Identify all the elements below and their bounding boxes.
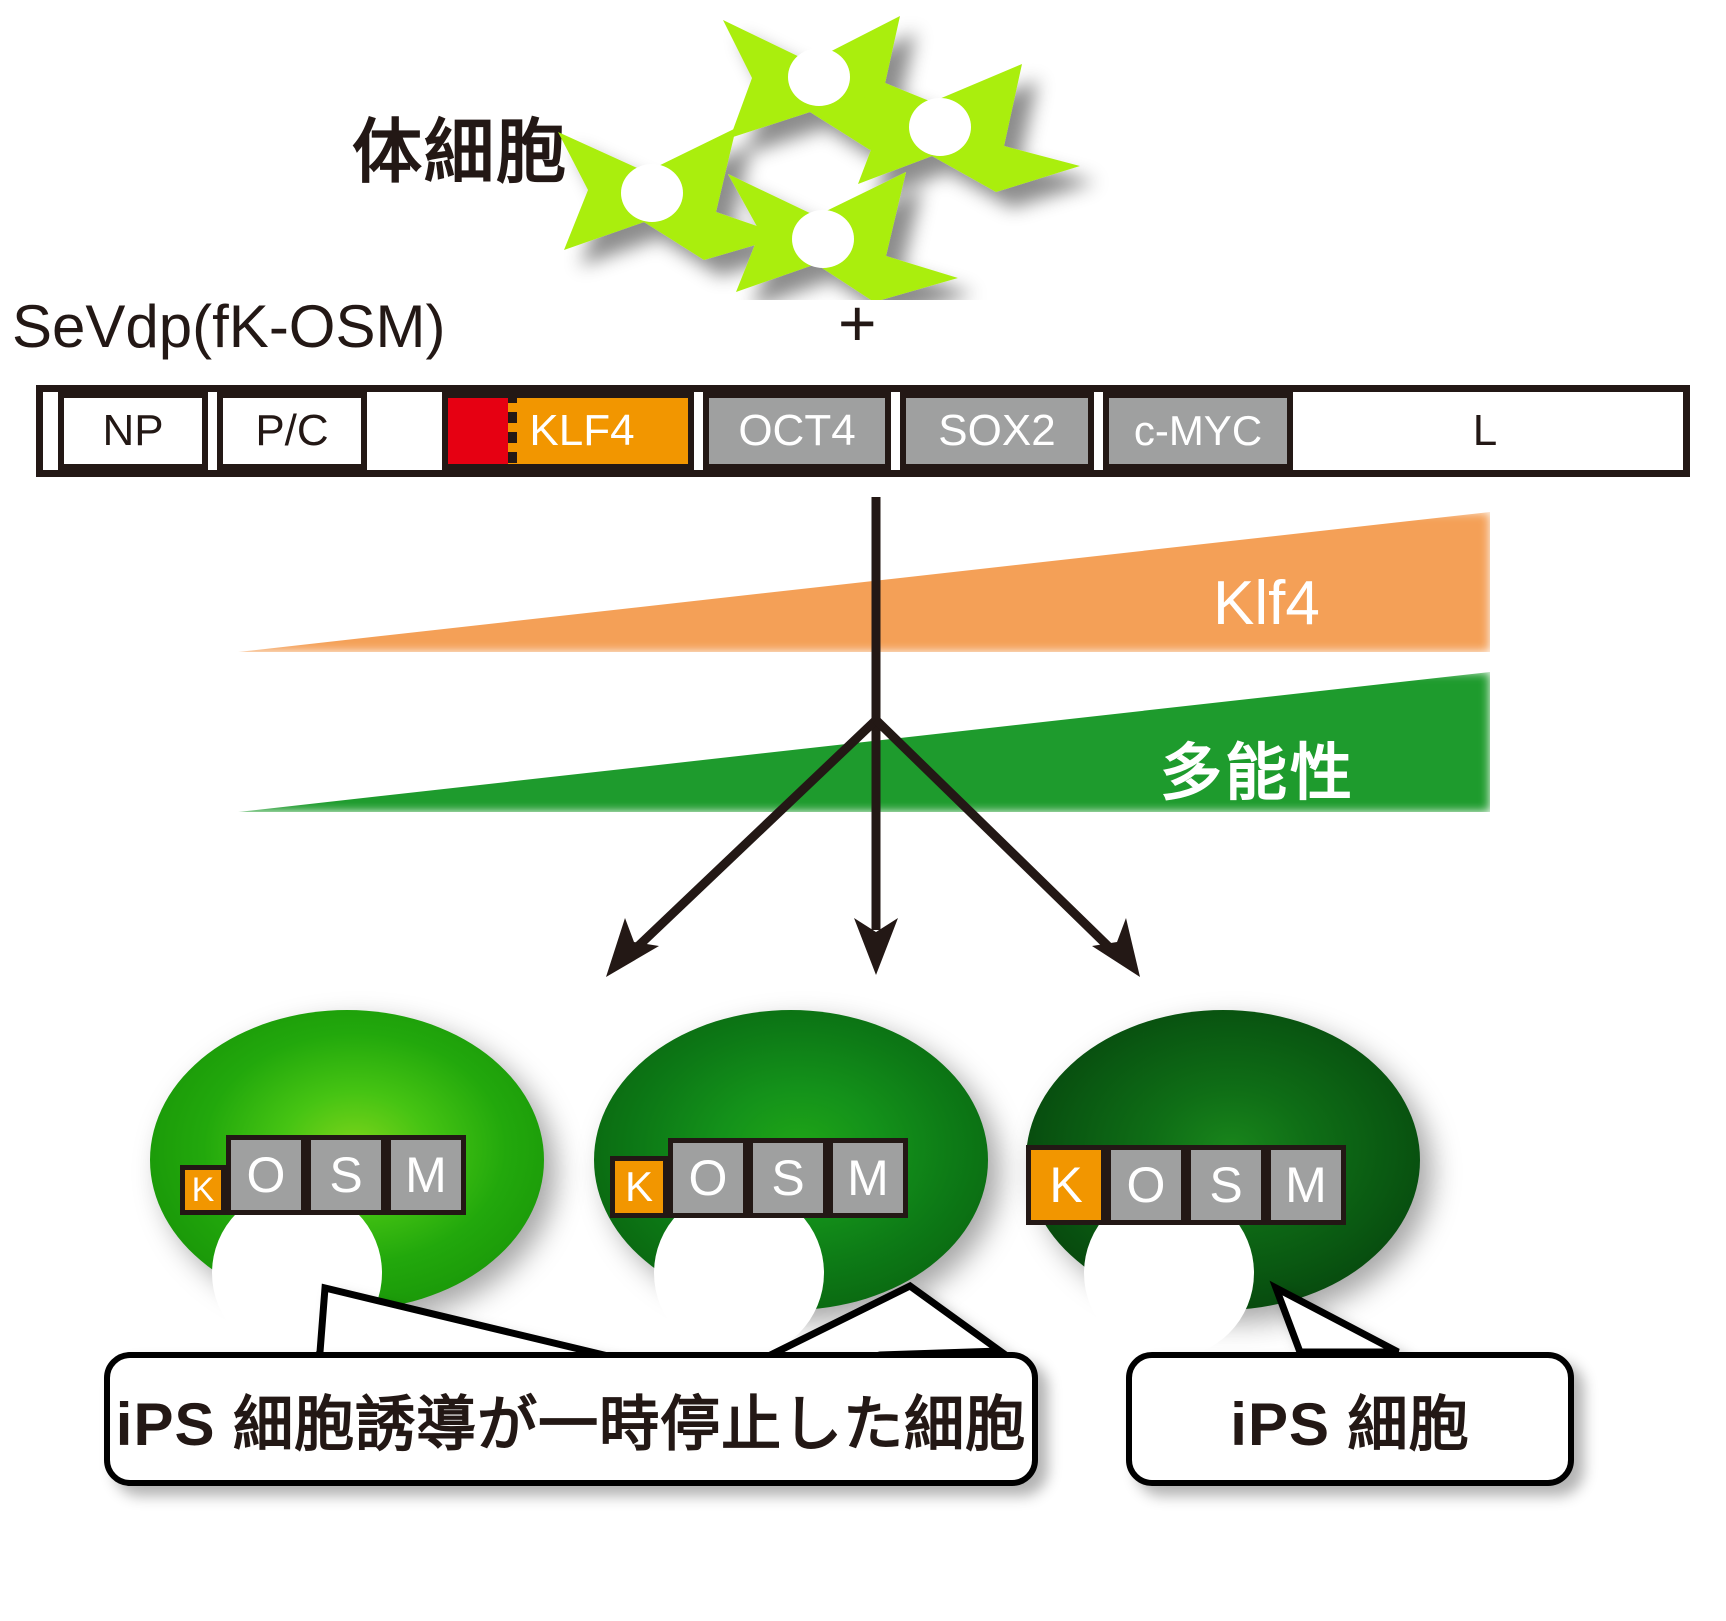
factor-box-s: S [306,1135,386,1215]
factor-label: O [247,1150,286,1200]
center-arrowhead-icon [854,918,898,975]
factor-box-m: M [1266,1145,1346,1225]
left-arrowhead-icon [606,918,659,977]
factor-box-m: M [828,1138,908,1218]
nucleus-icon [621,164,683,222]
gene-segment-sox2: SOX2 [900,392,1094,470]
factor-label: M [847,1153,889,1203]
factor-box-o: O [1106,1145,1186,1225]
gene-segment-cmyc: c-MYC [1103,392,1293,470]
factor-label: S [329,1150,362,1200]
factor-label: O [1127,1160,1166,1210]
bar-gap [891,392,900,470]
right-arrowhead-icon [1092,918,1140,977]
gene-segment-label: L [1473,409,1497,453]
bar-gap [1094,392,1103,470]
factor-box-k: K [1026,1145,1106,1225]
bar-gap [694,392,703,470]
callout-text: iPS 細胞誘導が一時停止した細胞 [116,1376,1026,1463]
result-cell-low-klf4: K O S M [150,1010,544,1330]
callout-text: iPS 細胞 [1230,1376,1469,1463]
factor-box-o: O [668,1138,748,1218]
factor-label: K [192,1173,215,1207]
plus-sign: + [838,290,877,356]
diagram-canvas: 体細胞 [0,0,1726,1621]
factor-box-m: M [386,1135,466,1215]
gene-segment-klf4: KLF4 [442,392,694,470]
gene-segment-pc: P/C [217,392,367,470]
factor-box-o: O [226,1135,306,1215]
gene-segment-oct4: OCT4 [703,392,891,470]
gene-segment-label: P/C [255,409,328,453]
bar-gap [208,392,217,470]
klf4-promoter-red-block [442,392,508,470]
factor-box-row: K O S M [180,1135,466,1215]
factor-label: S [1209,1160,1242,1210]
factor-label: K [1049,1160,1082,1210]
pluripotency-gradient-label: 多能性 [1160,722,1355,812]
factor-box-s: S [748,1138,828,1218]
bar-gap [1668,392,1677,470]
result-cell-high-klf4: K O S M [1026,1010,1420,1330]
gene-segment-l: L [1302,392,1668,470]
bar-right-edge [1677,392,1683,470]
result-cell-mid-klf4: K O S M [594,1010,988,1330]
klf4-gradient-label: Klf4 [1213,568,1320,639]
factor-box-k: K [180,1165,226,1215]
somatic-cells-illustration [480,10,1120,300]
callout-paused-cells: iPS 細胞誘導が一時停止した細胞 [104,1352,1038,1486]
bar-gap [367,392,376,470]
factor-box-k: K [610,1156,668,1218]
factor-label: M [405,1150,447,1200]
gene-segment-label: OCT4 [738,409,855,453]
factor-label: M [1285,1160,1327,1210]
factor-box-s: S [1186,1145,1266,1225]
somatic-cell-shapes [480,10,1120,300]
gene-segment-np: NP [58,392,208,470]
factor-label: S [771,1153,804,1203]
callout-ips-cells: iPS 細胞 [1126,1352,1574,1486]
factor-box-row: K O S M [1026,1145,1346,1225]
nucleus-icon [792,210,854,268]
bar-gap [1293,392,1302,470]
nucleus-icon [909,98,971,156]
factor-label: K [625,1166,653,1208]
factor-label: O [689,1153,728,1203]
nucleus-icon [788,48,850,106]
factor-box-row: K O S M [610,1138,908,1218]
gene-segment-label: SOX2 [938,409,1055,453]
klf4-dashed-divider [508,392,517,470]
construct-name-label: SeVdp(fK-OSM) [12,292,445,361]
sevdp-genome-bar: NP P/C KLF4 OCT4 SOX2 c-MYC L [36,385,1690,477]
gene-segment-label: KLF4 [529,409,634,453]
bar-left-edge [43,392,49,470]
bar-gap [49,392,58,470]
gene-segment-label: c-MYC [1134,410,1262,452]
gene-segment-label: NP [102,409,163,453]
